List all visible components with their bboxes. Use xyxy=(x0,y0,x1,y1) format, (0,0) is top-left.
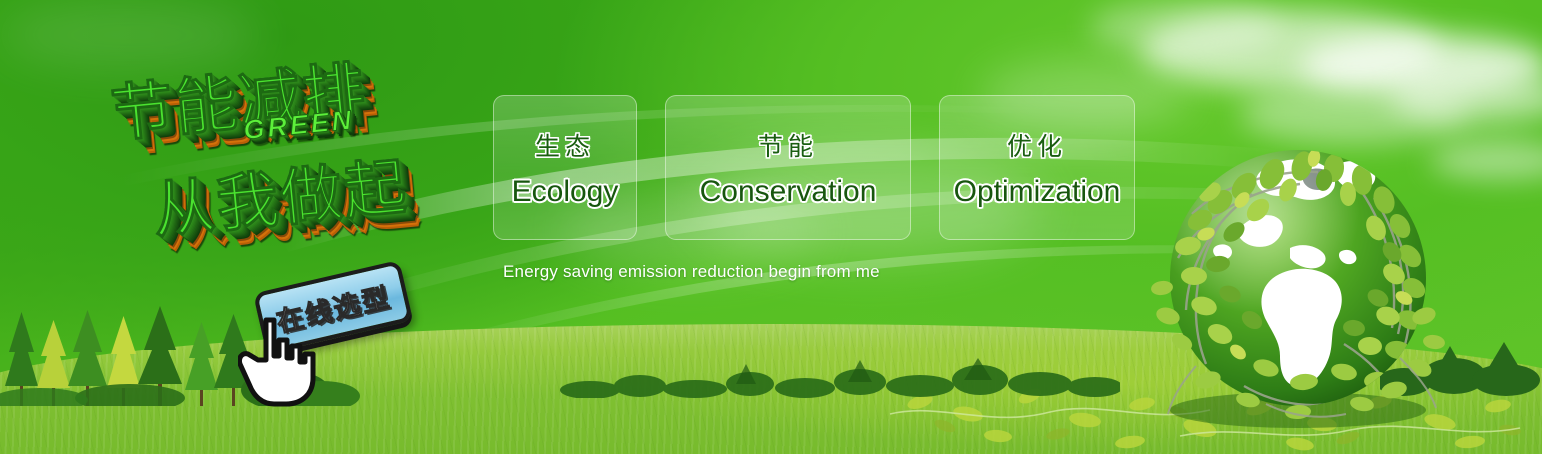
leaf-globe-icon xyxy=(1148,128,1448,428)
feature-card-optimization[interactable]: 优化 Optimization xyxy=(939,95,1135,240)
eco-banner: 节能减排 GREEN 从我做起 在线选型 生态 Ecology 节能 Conse… xyxy=(0,0,1542,454)
tree-icon xyxy=(560,352,1120,398)
headline-line-3: 从我做起 xyxy=(148,136,411,250)
feature-card-cn-label: 优化 xyxy=(1007,127,1067,163)
headline: 节能减排 GREEN 从我做起 xyxy=(90,19,510,286)
feature-card-en-label: Ecology xyxy=(512,175,619,209)
hand-pointer-icon xyxy=(238,316,324,408)
feature-card-conservation[interactable]: 节能 Conservation xyxy=(665,95,911,240)
feature-card-ecology[interactable]: 生态 Ecology xyxy=(493,95,637,240)
feature-card-en-label: Conservation xyxy=(700,175,877,209)
tagline: Energy saving emission reduction begin f… xyxy=(503,262,880,282)
feature-card-cn-label: 节能 xyxy=(758,127,818,163)
feature-card-cn-label: 生态 xyxy=(535,127,595,163)
feature-card-en-label: Optimization xyxy=(954,175,1121,209)
cloud-icon xyxy=(1090,0,1280,54)
feature-card-list: 生态 Ecology 节能 Conservation 优化 Optimizati… xyxy=(493,95,1135,240)
